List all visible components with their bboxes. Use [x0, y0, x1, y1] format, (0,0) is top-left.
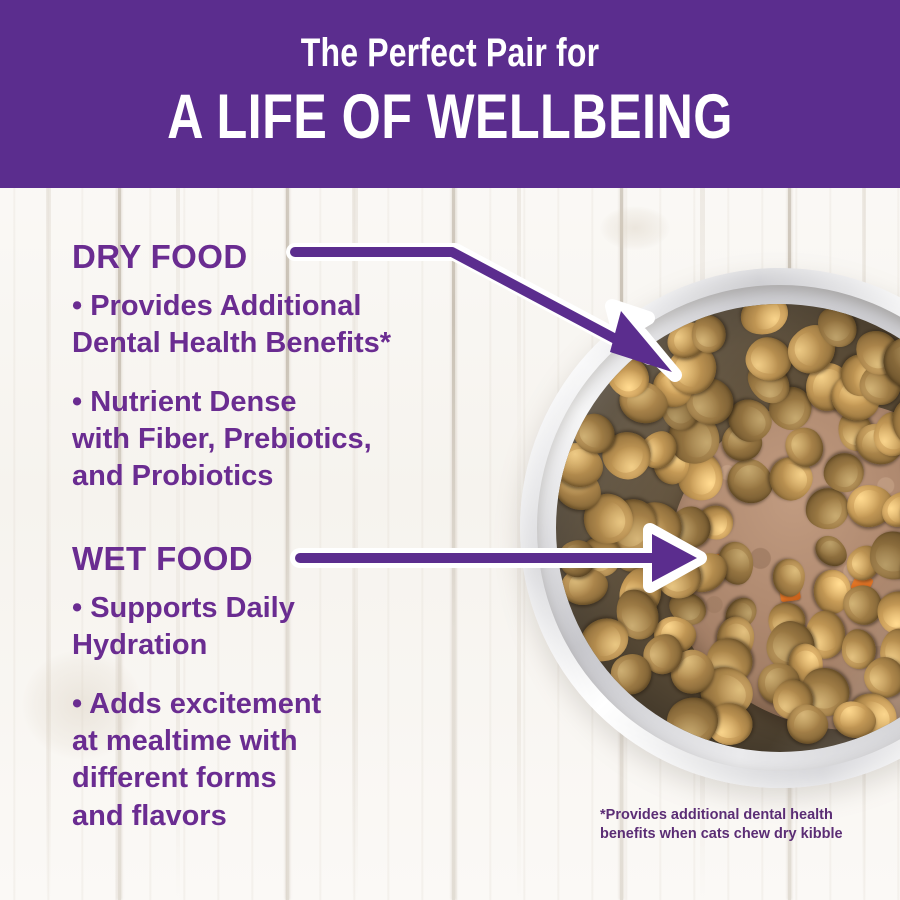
header-title: A LIFE OF WELLBEING	[90, 86, 810, 149]
list-item: • Adds excitement at mealtime with diffe…	[72, 686, 492, 834]
pet-food-bowl-image	[520, 268, 900, 788]
header-banner: The Perfect Pair for A LIFE OF WELLBEING	[0, 0, 900, 188]
section-heading-dry-food: DRY FOOD	[72, 238, 248, 276]
list-item: • Supports Daily Hydration	[72, 590, 492, 664]
dry-food-bullet-list: • Provides Additional Dental Health Bene…	[72, 288, 492, 518]
header-subtitle: The Perfect Pair for	[90, 33, 810, 73]
kibble-piece	[691, 315, 726, 354]
section-heading-wet-food: WET FOOD	[72, 540, 253, 578]
kibble-piece	[773, 558, 805, 596]
list-item: • Provides Additional Dental Health Bene…	[72, 288, 492, 362]
poster-canvas: The Perfect Pair for A LIFE OF WELLBEING	[0, 0, 900, 900]
kibble-piece	[735, 304, 792, 340]
wood-knot	[600, 206, 670, 250]
list-item: • Nutrient Dense with Fiber, Prebiotics,…	[72, 384, 492, 495]
wet-food-bullet-list: • Supports Daily Hydration • Adds excite…	[72, 590, 492, 857]
footnote-disclaimer: *Provides additional dental health benef…	[600, 806, 843, 844]
